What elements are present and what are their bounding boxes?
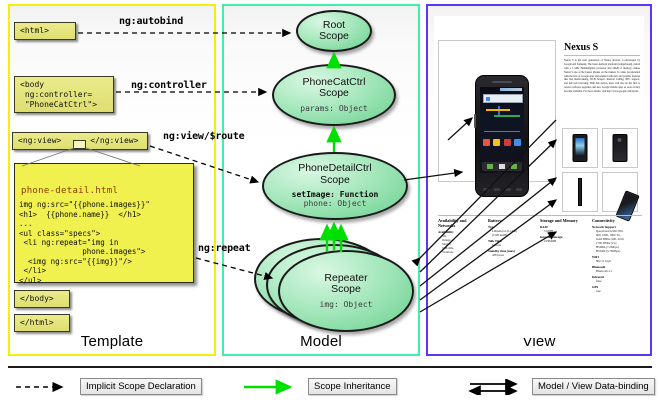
label-ng-view-route: ng:view/$route (163, 131, 245, 142)
specs-column-availability: Availability and Networks Availability M… (438, 218, 484, 254)
specs-header-2: Battery (488, 218, 536, 223)
scope-phonedetailctrl-name2: Scope (320, 174, 350, 186)
legend-item-inheritance: Scope Inheritance (242, 378, 397, 395)
legend-double-arrow-icon (466, 379, 526, 395)
app-icon-1 (483, 139, 490, 146)
view-specs-table: Availability and Networks Availability M… (436, 218, 642, 328)
legend-label-inheritance: Scope Inheritance (308, 378, 397, 395)
phone-search-widget (483, 94, 523, 103)
specs-value-4-1-0: 802.11 b/g/n (596, 259, 642, 263)
hw-button-3 (505, 188, 511, 191)
tag-html-open: <html> (14, 22, 76, 40)
tag-ngview-open-text: <ng:view> (18, 136, 61, 145)
label-ng-autobind: ng:autobind (119, 16, 183, 27)
template-code-source: img ng:src="{{phone.images}}" <h1> {{pho… (19, 200, 150, 294)
dock-icon-3 (511, 164, 517, 169)
dock-icon-1 (487, 164, 493, 169)
hw-button-2 (494, 188, 500, 191)
specs-value-4-2-0: Bluetooth 2.1 (596, 269, 642, 273)
legend-label-databinding: Model / View Data-binding (532, 378, 655, 395)
specs-value-2-1-0: 6 hours (492, 243, 536, 247)
specs-column-connectivity: Connectivity Network Support Quad-band G… (592, 218, 642, 293)
phone-side-button (474, 114, 476, 128)
scope-phonecatctrl-prop: params: Object (300, 104, 367, 113)
specs-value-2-0-1: (1500 mAH) (492, 233, 536, 237)
column-model-label: Model (224, 333, 418, 350)
legend-item-implicit: Implicit Scope Declaration (14, 378, 202, 395)
label-ng-repeat: ng:repeat (198, 243, 250, 254)
specs-value-2-2-0: 428 hours (492, 253, 536, 257)
thumbnail-1[interactable] (562, 128, 598, 168)
scope-repeater-stack: RepeaterScope img: Object (254, 238, 422, 334)
phone-statusbar (500, 88, 522, 91)
hw-button-4 (516, 188, 522, 191)
scope-repeater: RepeaterScope img: Object (278, 250, 414, 332)
scope-repeater-name1: Repeater (324, 272, 367, 284)
ngview-placeholder-icon (73, 140, 86, 149)
specs-value-3-1-0: 16384MB (544, 239, 590, 243)
specs-value-4-3-0: false (596, 279, 642, 283)
specs-value-3-0-0: 512MB (544, 229, 590, 233)
app-icon-4 (514, 139, 521, 146)
scope-phonedetailctrl-name1: PhoneDetailCtrl (298, 162, 372, 174)
dock-icon-2 (499, 164, 505, 169)
diagram-canvas: Template Model View <html> <body ng:cont… (0, 0, 660, 420)
tag-html-close: </html> (14, 314, 70, 332)
scope-phonecatctrl: PhoneCatCtrlScope params: Object (272, 64, 396, 126)
view-title-rule (564, 55, 640, 56)
template-code-block: phone-detail.htmlimg ng:src="{{phone.ima… (14, 163, 194, 283)
thumbnail-4[interactable] (602, 172, 638, 212)
scope-phonecatctrl-name1: PhoneCatCtrl (302, 76, 365, 88)
column-template-label: Template (10, 333, 214, 350)
scope-phonedetailctrl: PhoneDetailCtrlScope setImage: Functionp… (262, 152, 408, 220)
specs-header-1: Availability and Networks (438, 218, 484, 228)
thumbnail-3[interactable] (562, 172, 598, 212)
tag-body-close: </body> (14, 290, 70, 308)
wallpaper-stroke-1 (486, 109, 510, 111)
app-icon-3 (504, 139, 511, 146)
specs-header-3: Storage and Memory (540, 218, 590, 223)
tag-body-open: <body ng:controller= "PhoneCatCtrl"> (14, 76, 114, 113)
legend-green-arrow-icon (242, 379, 302, 395)
scope-root: RootScope (296, 10, 372, 52)
view-page-description: Nexus S is the next generation of Nexus … (564, 59, 640, 123)
phone-dock (482, 162, 522, 171)
specs-rule (438, 215, 642, 216)
specs-value-1-0-4: Vodafone (442, 250, 484, 254)
specs-header-4: Connectivity (592, 218, 642, 223)
scope-phonecatctrl-name2: Scope (319, 87, 349, 99)
wallpaper-stroke-2 (494, 115, 520, 117)
scope-phonedetailctrl-prop-phone: phone: Object (304, 199, 367, 208)
wallpaper-stroke-4 (484, 131, 520, 132)
template-code-filename: phone-detail.html (21, 186, 189, 197)
hw-button-1 (483, 188, 489, 191)
view-page-title: Nexus S (564, 42, 598, 53)
phone-hardware-buttons (480, 188, 524, 191)
phone-hero-image-frame (438, 40, 556, 182)
legend-item-databinding: Model / View Data-binding (466, 378, 655, 395)
legend-label-implicit: Implicit Scope Declaration (80, 378, 202, 395)
thumb-back-image (613, 134, 628, 162)
scope-repeater-prop: img: Object (320, 300, 373, 309)
app-icon-2 (493, 139, 500, 146)
thumbnail-2[interactable] (602, 128, 638, 168)
view-rendered-page: Nexus S Nexus S is the next generation o… (434, 16, 644, 338)
specs-value-4-0-5: HSUPA (5.76Mbps) (596, 249, 642, 253)
specs-column-battery: Battery Type Lithium Ion (Li-Ion) (1500 … (488, 218, 536, 257)
specs-column-storage: Storage and Memory RAM 512MB Internal St… (540, 218, 590, 243)
legend-dashed-arrow-icon (14, 379, 74, 395)
scope-phonedetailctrl-prop-setimage: setImage: Function (292, 190, 379, 199)
legend-divider (8, 366, 652, 368)
specs-value-4-4-0: true (596, 289, 642, 293)
scope-repeater-name2: Scope (331, 283, 361, 295)
thumb-side-image (578, 178, 582, 206)
tag-ngview-close-text: </ng:view> (90, 136, 138, 145)
label-ng-controller: ng:controller (131, 80, 207, 91)
phone-speaker (492, 81, 512, 83)
phone-screen (480, 87, 524, 173)
phone-app-icons (483, 139, 521, 146)
scope-root-name2: Scope (319, 30, 349, 42)
phone-device-image (475, 75, 529, 197)
thumb-front-image (573, 134, 588, 162)
scope-root-name1: Root (323, 19, 345, 31)
